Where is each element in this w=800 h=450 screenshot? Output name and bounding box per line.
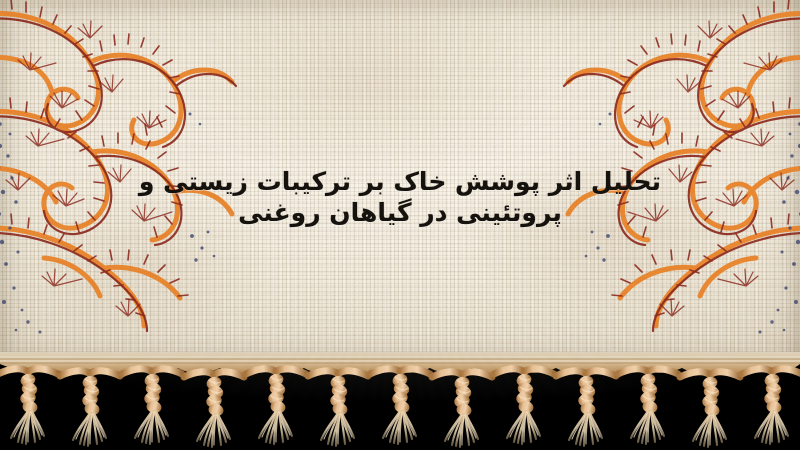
knotted-tassel-fringe [0, 362, 800, 450]
textile-title-card: تحلیل اثر پوشش خاک بر ترکیبات زیستی و پر… [0, 0, 800, 450]
fabric-background [0, 0, 800, 378]
linen-weave-texture-secondary [0, 0, 800, 378]
